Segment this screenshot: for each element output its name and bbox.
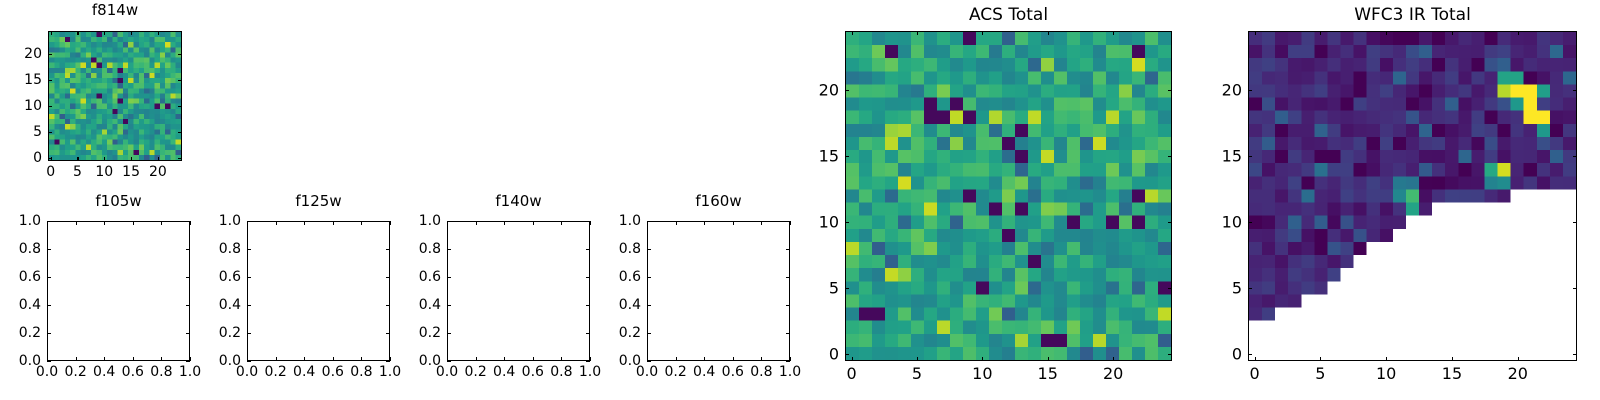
x-tick-label: 0.6 — [322, 364, 344, 380]
axes-title-f160w: f160w — [647, 192, 790, 210]
y-tick-mark-right — [178, 132, 182, 133]
x-tick-mark-top — [1320, 31, 1321, 35]
x-tick-label: 0.4 — [93, 364, 115, 380]
y-tick-mark-right — [1573, 288, 1577, 289]
x-tick-mark — [1518, 357, 1519, 361]
x-tick-label: 0.8 — [350, 364, 372, 380]
x-tick-mark-top — [852, 31, 853, 35]
x-tick-mark — [1113, 357, 1114, 361]
y-tick-mark-right — [1168, 90, 1172, 91]
x-tick-mark — [276, 357, 277, 361]
x-tick-mark — [104, 157, 105, 161]
y-tick-mark — [845, 222, 849, 223]
x-tick-mark-top — [476, 221, 477, 225]
y-tick-mark — [447, 277, 451, 278]
y-tick-mark-right — [186, 333, 190, 334]
y-tick-mark — [647, 221, 651, 222]
y-tick-label: 0.4 — [0, 297, 41, 313]
y-tick-mark-right — [1168, 354, 1172, 355]
y-tick-mark — [247, 361, 251, 362]
y-tick-mark — [47, 221, 51, 222]
y-tick-label: 0 — [0, 150, 42, 166]
y-tick-mark-right — [786, 277, 790, 278]
y-tick-label: 10 — [0, 98, 42, 114]
x-tick-mark-top — [390, 221, 391, 225]
x-tick-mark — [982, 357, 983, 361]
y-tick-mark-right — [786, 249, 790, 250]
axes-acs-total[interactable] — [845, 31, 1172, 361]
x-tick-mark — [131, 157, 132, 161]
y-tick-label: 0 — [1190, 345, 1242, 364]
y-tick-mark — [47, 305, 51, 306]
x-tick-mark-top — [761, 221, 762, 225]
heatmap-image-acs-total — [846, 32, 1171, 360]
y-tick-mark — [647, 305, 651, 306]
axes-title-wfc3-ir-total: WFC3 IR Total — [1248, 5, 1577, 25]
x-tick-label: 0 — [846, 364, 856, 383]
x-tick-mark-top — [104, 221, 105, 225]
y-tick-mark — [647, 249, 651, 250]
x-tick-label: 15 — [1442, 364, 1462, 383]
x-tick-label: 0.2 — [264, 364, 286, 380]
x-tick-label: 10 — [1376, 364, 1396, 383]
y-tick-label: 1.0 — [589, 213, 641, 229]
x-tick-mark — [161, 357, 162, 361]
axes-f125w[interactable] — [247, 221, 390, 361]
y-tick-mark-right — [186, 221, 190, 222]
heatmap-image-wfc3-ir-total — [1249, 32, 1576, 360]
x-tick-label: 10 — [95, 164, 113, 180]
y-tick-mark-right — [786, 361, 790, 362]
x-tick-mark — [590, 357, 591, 361]
x-tick-label: 0.6 — [122, 364, 144, 380]
x-tick-mark-top — [190, 221, 191, 225]
x-tick-mark-top — [1452, 31, 1453, 35]
y-tick-mark-right — [586, 221, 590, 222]
y-tick-mark-right — [586, 305, 590, 306]
x-tick-label: 0.0 — [236, 364, 258, 380]
x-tick-label: 20 — [1508, 364, 1528, 383]
x-tick-label: 20 — [1103, 364, 1123, 383]
y-tick-label: 0.4 — [189, 297, 241, 313]
x-tick-mark-top — [533, 221, 534, 225]
x-tick-mark — [190, 357, 191, 361]
y-tick-mark-right — [386, 305, 390, 306]
x-tick-label: 5 — [1315, 364, 1325, 383]
axes-title-f125w: f125w — [247, 192, 390, 210]
y-tick-mark-right — [586, 361, 590, 362]
y-tick-mark — [47, 333, 51, 334]
axes-title-acs-total: ACS Total — [845, 5, 1172, 25]
y-tick-label: 0.6 — [0, 269, 41, 285]
x-tick-label: 0.4 — [693, 364, 715, 380]
x-tick-mark — [1320, 357, 1321, 361]
y-tick-mark — [447, 361, 451, 362]
x-tick-label: 1.0 — [579, 364, 601, 380]
y-tick-mark — [845, 90, 849, 91]
x-tick-mark-top — [276, 221, 277, 225]
y-tick-mark-right — [186, 305, 190, 306]
x-tick-mark-top — [333, 221, 334, 225]
x-tick-mark — [104, 357, 105, 361]
y-tick-mark — [47, 277, 51, 278]
axes-f160w[interactable] — [647, 221, 790, 361]
x-tick-mark — [790, 357, 791, 361]
x-tick-label: 0.0 — [636, 364, 658, 380]
x-tick-mark — [476, 357, 477, 361]
y-tick-mark — [47, 361, 51, 362]
x-tick-mark — [852, 357, 853, 361]
x-tick-mark — [676, 357, 677, 361]
axes-f814w[interactable] — [48, 31, 182, 161]
y-tick-mark-right — [1573, 156, 1577, 157]
x-tick-mark — [361, 357, 362, 361]
y-tick-label: 0.8 — [0, 241, 41, 257]
x-tick-mark-top — [1048, 31, 1049, 35]
y-tick-mark — [447, 221, 451, 222]
y-tick-label: 5 — [0, 124, 42, 140]
x-tick-label: 15 — [122, 164, 140, 180]
x-tick-mark — [333, 357, 334, 361]
x-tick-mark — [1386, 357, 1387, 361]
y-tick-mark — [1248, 90, 1252, 91]
x-tick-mark — [390, 357, 391, 361]
y-tick-mark-right — [1573, 90, 1577, 91]
x-tick-mark-top — [158, 31, 159, 35]
x-tick-mark-top — [504, 221, 505, 225]
y-tick-label: 0.2 — [0, 325, 41, 341]
x-tick-mark-top — [704, 221, 705, 225]
y-tick-mark — [247, 221, 251, 222]
axes-title-f105w: f105w — [47, 192, 190, 210]
y-tick-label: 20 — [0, 46, 42, 62]
y-tick-label: 1.0 — [389, 213, 441, 229]
x-tick-label: 0.2 — [64, 364, 86, 380]
y-tick-label: 0.6 — [589, 269, 641, 285]
y-tick-mark-right — [386, 249, 390, 250]
x-tick-label: 5 — [912, 364, 922, 383]
y-tick-mark — [647, 361, 651, 362]
x-tick-mark-top — [361, 221, 362, 225]
x-tick-mark — [1048, 357, 1049, 361]
y-tick-mark-right — [386, 333, 390, 334]
x-tick-mark — [133, 357, 134, 361]
y-tick-label: 15 — [0, 72, 42, 88]
y-tick-mark-right — [586, 249, 590, 250]
y-tick-label: 0.8 — [189, 241, 241, 257]
y-tick-mark — [247, 305, 251, 306]
axes-wfc3-ir-total[interactable] — [1248, 31, 1577, 361]
y-tick-mark — [647, 277, 651, 278]
y-tick-mark — [447, 249, 451, 250]
x-tick-label: 0 — [1249, 364, 1259, 383]
x-tick-label: 0.8 — [750, 364, 772, 380]
y-tick-mark — [247, 277, 251, 278]
y-tick-mark-right — [586, 333, 590, 334]
y-tick-mark-right — [178, 54, 182, 55]
x-tick-label: 1.0 — [779, 364, 801, 380]
x-tick-label: 0.0 — [36, 364, 58, 380]
x-tick-label: 20 — [149, 164, 167, 180]
x-tick-label: 10 — [972, 364, 992, 383]
x-tick-mark-top — [104, 31, 105, 35]
x-tick-mark-top — [1518, 31, 1519, 35]
y-tick-label: 0.0 — [589, 353, 641, 369]
y-tick-label: 0.6 — [389, 269, 441, 285]
y-tick-mark-right — [1168, 222, 1172, 223]
y-tick-mark-right — [186, 361, 190, 362]
y-tick-mark-right — [1573, 222, 1577, 223]
x-tick-mark — [561, 357, 562, 361]
x-tick-label: 0 — [46, 164, 55, 180]
y-tick-mark — [48, 158, 52, 159]
x-tick-mark-top — [51, 31, 52, 35]
x-tick-mark — [533, 357, 534, 361]
x-tick-label: 0.2 — [664, 364, 686, 380]
x-tick-label: 0.4 — [493, 364, 515, 380]
y-tick-mark — [447, 333, 451, 334]
x-tick-mark-top — [76, 221, 77, 225]
x-tick-mark-top — [733, 221, 734, 225]
y-tick-mark — [845, 156, 849, 157]
y-tick-label: 1.0 — [189, 213, 241, 229]
y-tick-mark-right — [786, 221, 790, 222]
x-tick-mark-top — [917, 31, 918, 35]
x-tick-mark-top — [1386, 31, 1387, 35]
axes-title-f140w: f140w — [447, 192, 590, 210]
x-tick-mark — [1255, 357, 1256, 361]
x-tick-mark-top — [590, 221, 591, 225]
x-tick-label: 0.0 — [436, 364, 458, 380]
y-tick-mark-right — [178, 80, 182, 81]
y-tick-label: 0.0 — [189, 353, 241, 369]
y-tick-label: 10 — [1190, 213, 1242, 232]
x-tick-label: 15 — [1038, 364, 1058, 383]
x-tick-label: 5 — [73, 164, 82, 180]
y-tick-mark-right — [386, 361, 390, 362]
y-tick-mark-right — [178, 158, 182, 159]
x-tick-mark-top — [1255, 31, 1256, 35]
y-tick-label: 20 — [787, 81, 839, 100]
y-tick-label: 10 — [787, 213, 839, 232]
y-tick-label: 0.8 — [389, 241, 441, 257]
y-tick-mark — [1248, 288, 1252, 289]
y-tick-label: 0.0 — [389, 353, 441, 369]
x-tick-label: 0.8 — [550, 364, 572, 380]
y-tick-label: 5 — [787, 279, 839, 298]
x-tick-mark — [77, 157, 78, 161]
y-tick-mark — [1248, 222, 1252, 223]
x-tick-label: 0.4 — [293, 364, 315, 380]
y-tick-mark — [247, 249, 251, 250]
y-tick-label: 0.6 — [189, 269, 241, 285]
y-tick-mark-right — [786, 333, 790, 334]
y-tick-mark — [647, 333, 651, 334]
x-tick-mark — [917, 357, 918, 361]
axes-f140w[interactable] — [447, 221, 590, 361]
x-tick-label: 1.0 — [379, 364, 401, 380]
x-tick-mark — [504, 357, 505, 361]
x-tick-mark — [733, 357, 734, 361]
axes-f105w[interactable] — [47, 221, 190, 361]
x-tick-mark-top — [561, 221, 562, 225]
y-tick-label: 1.0 — [0, 213, 41, 229]
y-tick-label: 15 — [1190, 147, 1242, 166]
x-tick-mark — [76, 357, 77, 361]
x-tick-mark-top — [77, 31, 78, 35]
y-tick-mark-right — [386, 277, 390, 278]
x-tick-mark-top — [982, 31, 983, 35]
x-tick-mark-top — [676, 221, 677, 225]
y-tick-mark — [845, 288, 849, 289]
y-tick-label: 5 — [1190, 279, 1242, 298]
y-tick-mark-right — [586, 277, 590, 278]
y-tick-mark — [48, 106, 52, 107]
y-tick-label: 20 — [1190, 81, 1242, 100]
y-tick-mark-right — [186, 277, 190, 278]
y-tick-mark-right — [178, 106, 182, 107]
x-tick-mark-top — [1113, 31, 1114, 35]
y-tick-mark — [845, 354, 849, 355]
x-tick-label: 1.0 — [179, 364, 201, 380]
y-tick-mark — [48, 54, 52, 55]
x-tick-label: 0.8 — [150, 364, 172, 380]
y-tick-label: 15 — [787, 147, 839, 166]
x-tick-mark-top — [133, 221, 134, 225]
x-tick-label: 0.6 — [522, 364, 544, 380]
axes-title-f814w: f814w — [48, 1, 182, 19]
y-tick-mark-right — [186, 249, 190, 250]
y-tick-mark-right — [386, 221, 390, 222]
x-tick-mark-top — [790, 221, 791, 225]
x-tick-mark — [704, 357, 705, 361]
x-tick-mark — [761, 357, 762, 361]
y-tick-label: 0 — [787, 345, 839, 364]
y-tick-mark — [1248, 156, 1252, 157]
y-tick-mark — [247, 333, 251, 334]
y-tick-label: 0.8 — [589, 241, 641, 257]
x-tick-label: 0.2 — [464, 364, 486, 380]
y-tick-mark — [48, 132, 52, 133]
x-tick-mark-top — [131, 31, 132, 35]
y-tick-mark-right — [1168, 156, 1172, 157]
y-tick-label: 0.0 — [0, 353, 41, 369]
y-tick-label: 0.4 — [589, 297, 641, 313]
y-tick-mark-right — [786, 305, 790, 306]
y-tick-mark — [1248, 354, 1252, 355]
y-tick-label: 0.4 — [389, 297, 441, 313]
x-tick-mark-top — [161, 221, 162, 225]
y-tick-label: 0.2 — [389, 325, 441, 341]
matplotlib-figure: f814w 0510152005101520 f105w 0.00.20.40.… — [0, 0, 1600, 400]
x-tick-mark — [304, 357, 305, 361]
y-tick-mark — [47, 249, 51, 250]
x-tick-mark — [158, 157, 159, 161]
y-tick-mark-right — [1168, 288, 1172, 289]
y-tick-mark-right — [1573, 354, 1577, 355]
x-tick-mark-top — [304, 221, 305, 225]
y-tick-label: 0.2 — [189, 325, 241, 341]
y-tick-mark — [48, 80, 52, 81]
heatmap-image-f814w — [49, 32, 181, 160]
y-tick-mark — [447, 305, 451, 306]
x-tick-label: 0.6 — [722, 364, 744, 380]
x-tick-mark — [1452, 357, 1453, 361]
y-tick-label: 0.2 — [589, 325, 641, 341]
